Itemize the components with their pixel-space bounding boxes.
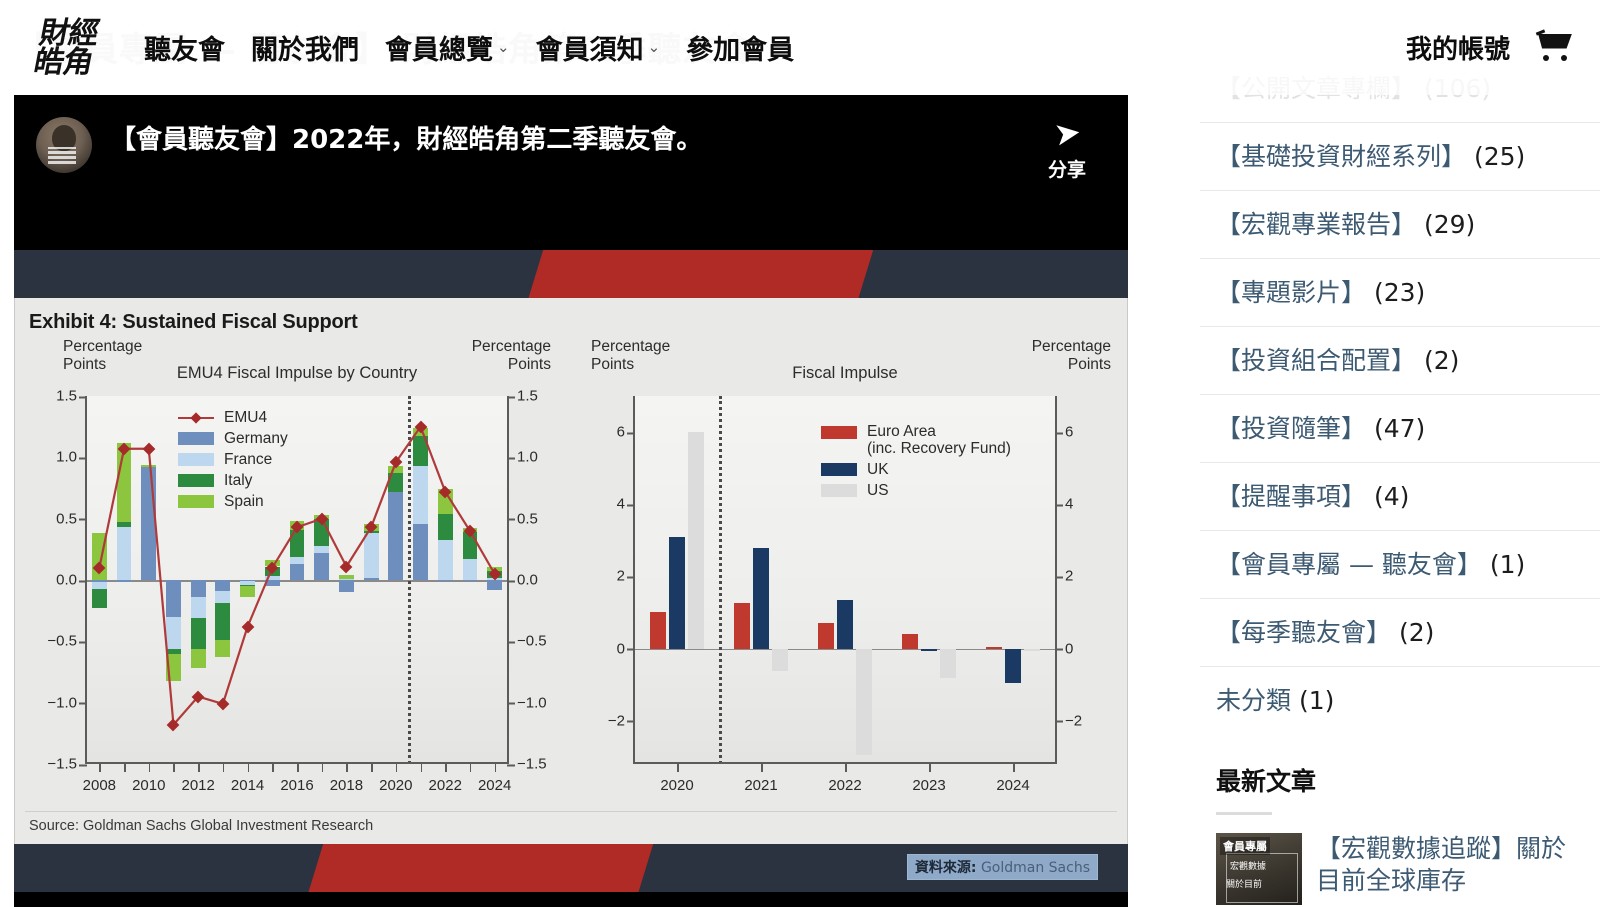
my-account-link[interactable]: 我的帳號 — [1406, 29, 1510, 66]
x-tick-mark — [677, 764, 679, 772]
sidebar-category-item[interactable]: 【基礎投資財經系列】 (25) — [1200, 122, 1600, 190]
charts-container: Percentage Points Percentage Points EMU4… — [23, 338, 1119, 804]
avatar — [36, 117, 92, 173]
thumb-tag: 會員專屬 — [1220, 837, 1270, 855]
legend-line-swatch — [178, 417, 214, 419]
legend-item-us: US — [821, 481, 1011, 500]
y-tick-mark — [627, 504, 635, 506]
sidebar-category-count: (29) — [1424, 210, 1475, 239]
chart-source: Source: Goldman Sachs Global Investment … — [29, 818, 373, 834]
latest-posts-heading: 最新文章 — [1200, 734, 1600, 808]
y-tick-mark — [507, 396, 515, 398]
bar — [1024, 649, 1040, 651]
x-tick-label: 2008 — [83, 777, 116, 794]
chevron-down-icon: ⌄ — [648, 40, 661, 55]
y-tick-mark — [507, 519, 515, 521]
header-right-actions: 我的帳號 — [1406, 29, 1576, 66]
legend-swatch — [178, 495, 214, 508]
cart-basket — [1538, 34, 1572, 49]
sidebar-category-label: 【宏觀專業報告】 — [1216, 210, 1424, 239]
y-tick-mark — [1055, 504, 1063, 506]
main-nav: 聽友會 關於我們 會員總覽 ⌄ 會員須知 ⌄ 參加會員 — [144, 28, 794, 67]
x-tick-mark — [845, 764, 847, 772]
share-button[interactable]: ➤ 分享 — [1048, 117, 1086, 182]
sidebar-category-item[interactable]: 未分類 (1) — [1200, 666, 1600, 734]
y-tick-mark — [79, 764, 87, 766]
sidebar-category-count: (4) — [1374, 482, 1409, 511]
credit-prefix: 資料來源: — [915, 860, 977, 876]
y-tick-mark — [1055, 432, 1063, 434]
slide-divider — [25, 811, 1117, 812]
chevron-down-icon: ⌄ — [497, 40, 510, 55]
legend-item-uk: UK — [821, 460, 1011, 479]
legend-label: France — [224, 451, 272, 468]
y-tick-mark — [507, 764, 515, 766]
x-tick-mark — [371, 764, 373, 772]
y-tick-mark — [79, 457, 87, 459]
logo-line-2: 皓角 — [31, 48, 95, 77]
y-tick-mark — [627, 432, 635, 434]
x-tick-mark — [346, 764, 348, 772]
sidebar-category-label: 【投資組合配置】 — [1216, 346, 1424, 375]
sidebar-category-count: (23) — [1374, 278, 1425, 307]
x-tick-mark — [198, 764, 200, 772]
bar — [856, 649, 872, 755]
zero-line — [635, 649, 1055, 651]
x-tick-label: 2020 — [379, 777, 412, 794]
video-header: 【會員聽友會】2022年，財經皓角第二季聽友會。 ➤ 分享 — [14, 95, 1128, 250]
source-credit-badge: 資料來源: Goldman Sachs — [907, 854, 1098, 880]
x-tick-label: 2022 — [828, 777, 861, 794]
y-tick-mark — [627, 649, 635, 651]
x-tick-mark — [248, 764, 250, 772]
video-title: 【會員聽友會】2022年，財經皓角第二季聽友會。 — [110, 117, 702, 158]
legend-swatch — [821, 484, 857, 497]
cart-icon[interactable] — [1536, 31, 1576, 65]
y-tick-label: 1.0 — [56, 449, 77, 466]
y-tick-mark — [79, 703, 87, 705]
y-tick-mark — [507, 703, 515, 705]
legend-item-france: France — [178, 450, 288, 469]
y-tick-label: −1.0 — [517, 694, 547, 711]
y-tick-label: −2 — [1065, 712, 1082, 729]
exhibit-title: Exhibit 4: Sustained Fiscal Support — [15, 298, 1127, 334]
nav-item-join-member[interactable]: 參加會員 — [686, 28, 794, 67]
legend-item-euro-area: Euro Area (inc. Recovery Fund) — [821, 423, 1011, 458]
y-tick-mark — [79, 641, 87, 643]
y-tick-label: 0 — [617, 640, 625, 657]
bar — [669, 537, 685, 649]
credit-source: Goldman Sachs — [981, 860, 1090, 876]
legend-right: Euro Area (inc. Recovery Fund) UK US — [821, 423, 1011, 502]
sidebar-category-count: (1) — [1490, 550, 1525, 579]
y-tick-label: 0.0 — [517, 572, 538, 589]
nav-item-about-us[interactable]: 關於我們 — [251, 28, 359, 67]
cart-wheel-right — [1561, 55, 1567, 61]
sidebar-category-item[interactable]: 【提醒事項】 (4) — [1200, 462, 1600, 530]
bar — [902, 634, 918, 648]
x-tick-mark — [173, 764, 175, 772]
x-tick-label: 2022 — [429, 777, 462, 794]
legend-item-germany: Germany — [178, 429, 288, 448]
nav-label: 關於我們 — [251, 28, 359, 67]
nav-item-tingyouhui[interactable]: 聽友會 — [144, 28, 225, 67]
y-tick-mark — [627, 721, 635, 723]
x-tick-label: 2018 — [330, 777, 363, 794]
chart-title-left: EMU4 Fiscal Impulse by Country — [23, 364, 571, 383]
y-tick-mark — [1055, 649, 1063, 651]
legend-label: Germany — [224, 430, 288, 447]
share-label: 分享 — [1048, 155, 1086, 182]
y-tick-mark — [507, 457, 515, 459]
right-sidebar: 【公開文章專欄】 (106)【基礎投資財經系列】 (25)【宏觀專業報告】 (2… — [1200, 0, 1600, 907]
y-tick-label: 0 — [1065, 640, 1073, 657]
bar — [688, 432, 704, 648]
legend-label: Spain — [224, 493, 264, 510]
legend-left: EMU4 Germany France Italy — [178, 408, 288, 513]
x-tick-label: 2024 — [996, 777, 1029, 794]
legend-label: US — [867, 482, 889, 499]
x-tick-label: 2021 — [744, 777, 777, 794]
post-title[interactable]: 【宏觀數據追蹤】關於目前全球庫存 — [1316, 833, 1584, 905]
sidebar-category-count: (2) — [1399, 618, 1434, 647]
sidebar-category-count: (2) — [1424, 346, 1459, 375]
sidebar-category-count: (47) — [1374, 414, 1425, 443]
y-tick-mark — [627, 576, 635, 578]
y-tick-label: 0.5 — [56, 510, 77, 527]
y-tick-label: −1.5 — [517, 756, 547, 773]
bar — [772, 649, 788, 671]
sidebar-category-count: (1) — [1299, 686, 1334, 715]
legend-swatch — [821, 426, 857, 439]
y-tick-label: −0.5 — [47, 633, 77, 650]
x-tick-mark — [761, 764, 763, 772]
thumb-line-1: 宏觀數據 — [1230, 859, 1266, 872]
x-tick-mark — [149, 764, 151, 772]
x-tick-mark — [470, 764, 472, 772]
x-tick-label: 2016 — [280, 777, 313, 794]
y-tick-label: −0.5 — [517, 633, 547, 650]
bar — [921, 649, 937, 651]
cart-wheel-left — [1543, 55, 1549, 61]
legend-item-italy: Italy — [178, 471, 288, 490]
nav-label: 會員須知 — [536, 28, 644, 67]
bar — [650, 612, 666, 648]
slide-content: Exhibit 4: Sustained Fiscal Support Perc… — [14, 298, 1128, 844]
x-tick-mark — [445, 764, 447, 772]
legend-swatch — [178, 453, 214, 466]
y-tick-label: 4 — [1065, 496, 1073, 513]
x-tick-label: 2012 — [181, 777, 214, 794]
bar — [734, 603, 750, 648]
y-tick-label: 2 — [1065, 568, 1073, 585]
site-logo[interactable]: 財經 皓角 — [11, 11, 121, 85]
y-tick-label: 1.5 — [517, 388, 538, 405]
sidebar-category-label: 未分類 — [1216, 686, 1299, 715]
page-root: 【會員專屬 — 聽友會】 財經皓角第二季聽友會 財經 皓角 聽友會 關於我們 會… — [0, 0, 1600, 907]
slide-top-band — [14, 250, 1128, 298]
sidebar-category-count: (25) — [1474, 142, 1525, 171]
category-list: 【公開文章專欄】 (106)【基礎投資財經系列】 (25)【宏觀專業報告】 (2… — [1200, 55, 1600, 905]
logo-line-1: 財經 — [37, 18, 101, 47]
x-tick-label: 2024 — [478, 777, 511, 794]
sidebar-category-item[interactable]: 【每季聽友會】 (2) — [1200, 598, 1600, 666]
x-tick-mark — [272, 764, 274, 772]
slide-band-stripe — [302, 844, 656, 892]
sidebar-category-item[interactable]: 【投資隨筆】 (47) — [1200, 394, 1600, 462]
x-tick-mark — [1013, 764, 1015, 772]
bar — [753, 548, 769, 649]
slide-bottom-band: 資料來源: Goldman Sachs — [14, 844, 1128, 892]
x-tick-mark — [495, 764, 497, 772]
sidebar-category-item[interactable]: 【會員專屬 — 聽友會】 (1) — [1200, 530, 1600, 598]
y-tick-label: −1.5 — [47, 756, 77, 773]
x-tick-mark — [124, 764, 126, 772]
chart-title-right: Fiscal Impulse — [571, 364, 1119, 383]
y-tick-label: 2 — [617, 568, 625, 585]
bar — [940, 649, 956, 679]
legend-swatch — [178, 474, 214, 487]
bar — [986, 647, 1002, 649]
bar — [818, 623, 834, 649]
nav-item-member-overview[interactable]: 會員總覽 ⌄ — [385, 28, 510, 67]
legend-item-emu4: EMU4 — [178, 408, 288, 427]
chart-emu4-fiscal-impulse: Percentage Points Percentage Points EMU4… — [23, 338, 571, 804]
thumb-line-2: 關於目前 — [1226, 877, 1262, 890]
y-tick-label: 1.5 — [56, 388, 77, 405]
y-tick-label: 0.5 — [517, 510, 538, 527]
legend-swatch — [821, 463, 857, 476]
y-tick-label: 4 — [617, 496, 625, 513]
y-tick-label: 6 — [617, 424, 625, 441]
x-tick-mark — [929, 764, 931, 772]
x-tick-label: 2020 — [660, 777, 693, 794]
y-tick-mark — [1055, 576, 1063, 578]
x-tick-label: 2014 — [231, 777, 264, 794]
legend-label-line1: Euro Area — [867, 423, 936, 440]
plot-area-left: −1.5−1.5−1.0−1.0−0.5−0.50.00.00.50.51.01… — [85, 396, 509, 764]
site-header: 財經 皓角 聽友會 關於我們 會員總覽 ⌄ 會員須知 ⌄ 參加會員 我的帳號 — [0, 0, 1600, 95]
y-tick-label: 0.0 — [56, 572, 77, 589]
sidebar-category-label: 【每季聽友會】 — [1216, 618, 1399, 647]
latest-post-item[interactable]: 會員專屬宏觀數據關於目前【宏觀數據追蹤】關於目前全球庫存 — [1200, 815, 1600, 905]
bar — [837, 600, 853, 649]
legend-label: Italy — [224, 472, 252, 489]
legend-item-spain: Spain — [178, 492, 288, 511]
legend-label: Euro Area (inc. Recovery Fund) — [867, 423, 1011, 458]
x-tick-mark — [322, 764, 324, 772]
post-thumbnail: 會員專屬宏觀數據關於目前 — [1216, 833, 1302, 905]
x-tick-label: 2023 — [912, 777, 945, 794]
x-tick-mark — [99, 764, 101, 772]
x-tick-mark — [396, 764, 398, 772]
sidebar-category-item[interactable]: 【專題影片】 (23) — [1200, 258, 1600, 326]
y-tick-label: 6 — [1065, 424, 1073, 441]
y-tick-label: −1.0 — [47, 694, 77, 711]
y-tick-mark — [507, 641, 515, 643]
x-tick-mark — [223, 764, 225, 772]
y-tick-label: −2 — [608, 712, 625, 729]
share-arrow-icon: ➤ — [1051, 115, 1082, 150]
x-tick-mark — [421, 764, 423, 772]
video-player-area[interactable]: 【會員聽友會】2022年，財經皓角第二季聽友會。 ➤ 分享 Exhibit 4:… — [14, 95, 1128, 907]
sidebar-category-item[interactable]: 【宏觀專業報告】 (29) — [1200, 190, 1600, 258]
y-tick-mark — [79, 519, 87, 521]
y-tick-label: 1.0 — [517, 449, 538, 466]
y-tick-mark — [507, 580, 515, 582]
x-tick-label: 2010 — [132, 777, 165, 794]
legend-label-line2: (inc. Recovery Fund) — [867, 440, 1011, 457]
x-tick-mark — [297, 764, 299, 772]
y-tick-mark — [79, 580, 87, 582]
sidebar-category-label: 【專題影片】 — [1216, 278, 1374, 307]
sidebar-category-item[interactable]: 【投資組合配置】 (2) — [1200, 326, 1600, 394]
sidebar-category-label: 【基礎投資財經系列】 — [1216, 142, 1474, 171]
legend-label: UK — [867, 461, 889, 478]
nav-label: 聽友會 — [144, 28, 225, 67]
bar — [1005, 649, 1021, 683]
y-tick-mark — [1055, 721, 1063, 723]
nav-label: 會員總覽 — [385, 28, 493, 67]
chart-fiscal-impulse: Percentage Points Percentage Points Fisc… — [571, 338, 1119, 804]
legend-swatch — [178, 432, 214, 445]
sidebar-category-label: 【會員專屬 — 聽友會】 — [1216, 550, 1490, 579]
forecast-divider — [719, 396, 722, 764]
slide-band-stripe — [522, 250, 876, 298]
avatar-watermark — [48, 147, 76, 164]
sidebar-category-label: 【投資隨筆】 — [1216, 414, 1374, 443]
sidebar-category-label: 【提醒事項】 — [1216, 482, 1374, 511]
y-tick-mark — [79, 396, 87, 398]
nav-item-member-notice[interactable]: 會員須知 ⌄ — [536, 28, 661, 67]
legend-label: EMU4 — [224, 409, 267, 426]
nav-label: 參加會員 — [686, 28, 794, 67]
